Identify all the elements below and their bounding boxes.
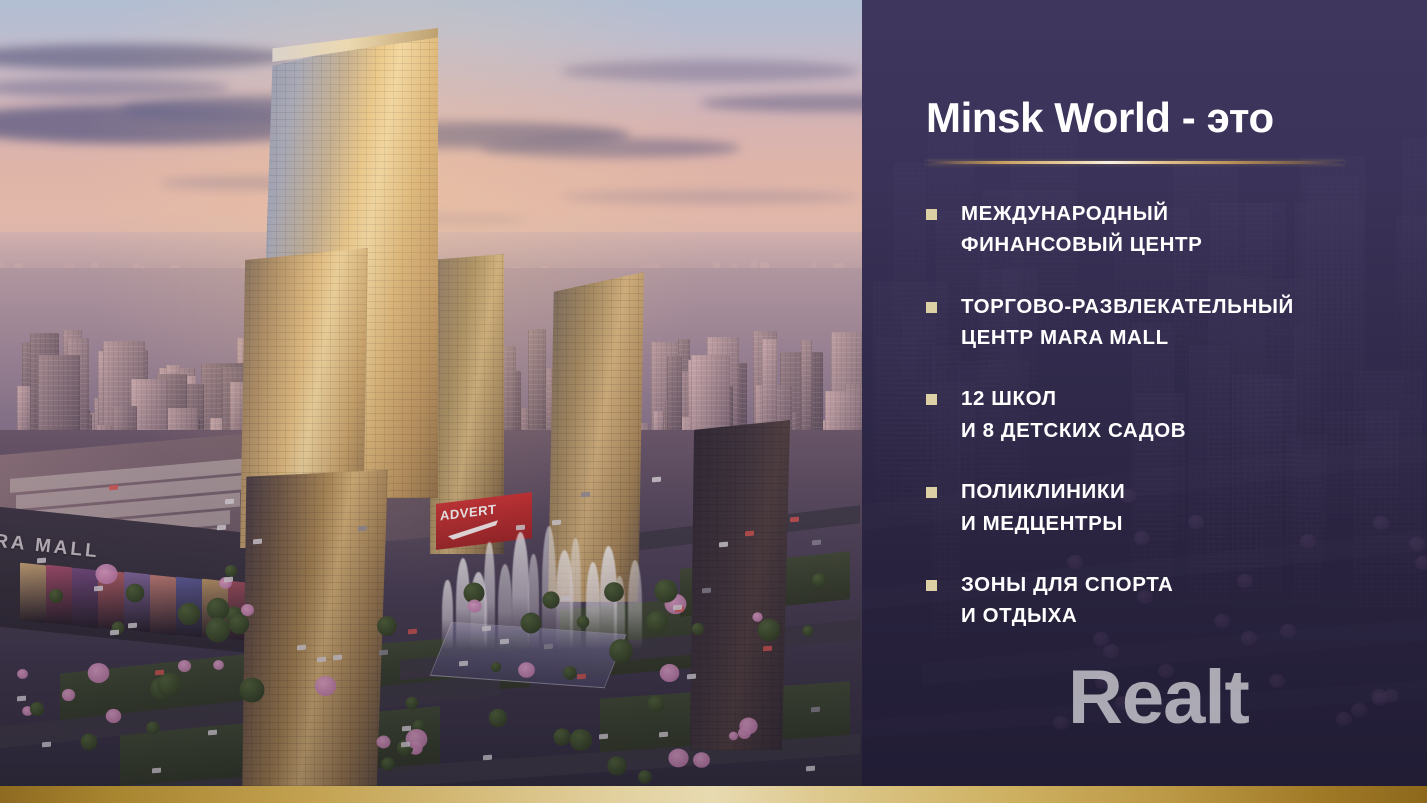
tree — [49, 589, 63, 603]
car — [459, 661, 468, 667]
tree — [638, 770, 652, 784]
car — [37, 558, 46, 564]
blossom-tree — [693, 753, 710, 769]
tower-dark-right — [690, 420, 790, 750]
car — [253, 539, 262, 545]
fountain-jet — [570, 538, 581, 650]
list-item: ЗОНЫ ДЛЯ СПОРТА И ОТДЫХА — [926, 569, 1416, 632]
car — [500, 638, 509, 644]
car — [719, 541, 728, 547]
tree — [812, 573, 826, 587]
mall-billboard — [72, 567, 98, 628]
mall-billboard — [20, 563, 46, 624]
gold-footer-bar — [0, 786, 1427, 803]
car — [358, 525, 367, 531]
square-bullet-icon — [926, 580, 937, 591]
fountain-jet — [528, 554, 539, 650]
square-bullet-icon — [926, 394, 937, 405]
glass-grid — [242, 470, 388, 786]
watermark-part-3: lt — [1204, 655, 1248, 740]
tree — [377, 616, 397, 636]
info-panel: Minsk World - это МЕЖДУНАРОДНЫЙ ФИНАНСОВ… — [862, 0, 1427, 786]
car — [483, 755, 492, 761]
car — [208, 730, 217, 736]
tree — [146, 721, 159, 734]
watermark-part-1: Re — [1068, 655, 1163, 740]
panel-content: Minsk World - это МЕЖДУНАРОДНЫЙ ФИНАНСОВ… — [862, 0, 1427, 786]
tree — [381, 757, 395, 771]
tree — [29, 702, 43, 716]
car — [155, 670, 164, 676]
tree — [647, 695, 664, 712]
car — [401, 742, 410, 748]
tree — [240, 677, 265, 702]
tree — [654, 579, 677, 602]
car — [745, 531, 754, 537]
car — [408, 628, 417, 634]
car — [806, 766, 815, 772]
list-item-label: ТОРГОВО-РАЗВЛЕКАТЕЛЬНЫЙ ЦЕНТР MARA MALL — [961, 291, 1294, 354]
car — [812, 539, 821, 545]
list-item: ТОРГОВО-РАЗВЛЕКАТЕЛЬНЫЙ ЦЕНТР MARA MALL — [926, 291, 1416, 354]
blossom-tree — [213, 660, 224, 670]
car — [402, 725, 411, 731]
blossom-tree — [659, 664, 679, 682]
blossom-tree — [739, 717, 757, 734]
list-item-label: ЗОНЫ ДЛЯ СПОРТА И ОТДЫХА — [961, 569, 1173, 632]
tree — [229, 614, 249, 634]
cloud — [560, 190, 860, 204]
car — [581, 491, 590, 497]
list-item-label: ПОЛИКЛИНИКИ И МЕДЦЕНТРЫ — [961, 476, 1125, 539]
square-bullet-icon — [926, 302, 937, 313]
tree — [491, 661, 501, 671]
slide-root: RA MALL ADVERT Minsk World - это МЕЖДУ — [0, 0, 1427, 803]
car — [687, 673, 696, 679]
feature-list: МЕЖДУНАРОДНЫЙ ФИНАНСОВЫЙ ЦЕНТРТОРГОВО-РА… — [926, 198, 1416, 632]
fountain-jet — [586, 562, 600, 650]
tree — [125, 584, 144, 603]
car — [128, 622, 137, 628]
car — [379, 650, 388, 656]
car — [217, 525, 226, 531]
tree — [178, 602, 200, 624]
list-item: 12 ШКОЛ И 8 ДЕТСКИХ САДОВ — [926, 383, 1416, 446]
fountain-jet — [484, 542, 495, 650]
car — [811, 707, 820, 713]
blossom-tree — [376, 736, 390, 749]
car — [763, 645, 772, 651]
tower-front-left — [242, 470, 388, 786]
blossom-tree — [17, 669, 28, 679]
fountain-jet — [542, 526, 556, 650]
tree — [691, 622, 704, 635]
car — [225, 499, 234, 505]
car — [516, 525, 525, 531]
list-item: МЕЖДУНАРОДНЫЙ ФИНАНСОВЫЙ ЦЕНТР — [926, 198, 1416, 261]
tree — [646, 611, 668, 633]
car — [317, 657, 326, 663]
tree — [609, 639, 633, 663]
realt-watermark: Realt — [1068, 660, 1249, 736]
mall-billboard — [150, 574, 176, 635]
car — [552, 520, 561, 526]
square-bullet-icon — [926, 209, 937, 220]
tree — [758, 619, 780, 641]
blossom-tree — [62, 688, 75, 700]
glass-grid — [690, 420, 790, 750]
tree — [520, 612, 541, 633]
blossom-tree — [95, 564, 117, 584]
list-item: ПОЛИКЛИНИКИ И МЕДЦЕНТРЫ — [926, 476, 1416, 539]
watermark-part-2: a — [1163, 655, 1204, 740]
tree — [570, 729, 592, 751]
list-item-label: 12 ШКОЛ И 8 ДЕТСКИХ САДОВ — [961, 383, 1186, 446]
square-bullet-icon — [926, 487, 937, 498]
list-item-label: МЕЖДУНАРОДНЫЙ ФИНАНСОВЫЙ ЦЕНТР — [961, 198, 1202, 261]
car — [333, 655, 342, 661]
fountain-jet — [498, 564, 512, 650]
blossom-tree — [518, 662, 535, 677]
car — [577, 673, 586, 679]
hero-photo: RA MALL ADVERT — [0, 0, 862, 786]
fountain-jet — [628, 560, 642, 650]
car — [42, 742, 51, 748]
tree — [489, 709, 507, 727]
fountain-jet — [442, 580, 453, 650]
car — [702, 587, 711, 593]
cloud — [560, 60, 860, 82]
gold-divider — [926, 161, 1344, 164]
cloud — [480, 138, 740, 158]
blossom-tree — [178, 660, 191, 672]
page-title: Minsk World - это — [926, 96, 1274, 140]
